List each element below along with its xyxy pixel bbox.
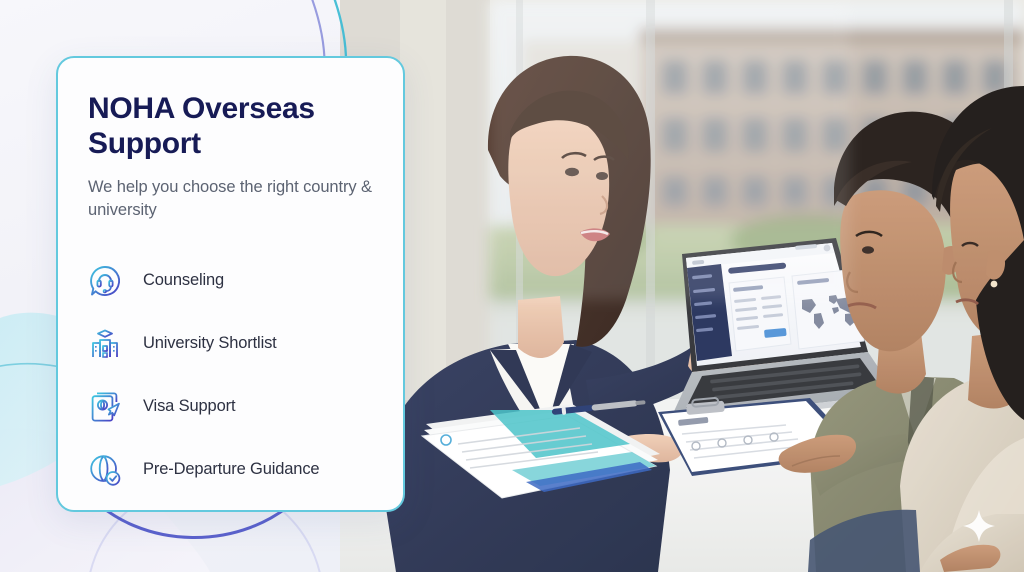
list-item-label: Visa Support xyxy=(143,397,235,416)
photo-illustration xyxy=(340,0,1024,572)
sparkle-icon xyxy=(962,509,996,543)
page-title: NOHA Overseas Support xyxy=(88,92,373,162)
list-item-label: Counseling xyxy=(143,271,224,290)
list-item[interactable]: Visa Support xyxy=(88,375,373,438)
list-item-label: University Shortlist xyxy=(143,334,277,353)
headset-support-icon xyxy=(88,264,122,298)
passport-plane-icon xyxy=(88,390,122,424)
poster-canvas: NOHA Overseas Support We help you choose… xyxy=(0,0,1024,572)
list-item[interactable]: Counseling xyxy=(88,249,373,312)
list-item[interactable]: Pre-Departure Guidance xyxy=(88,438,373,501)
feature-list: Counseling xyxy=(88,249,373,501)
university-building-icon xyxy=(88,327,122,361)
counseling-session-photo xyxy=(340,0,1024,572)
list-item-label: Pre-Departure Guidance xyxy=(143,460,319,479)
card-subtitle: We help you choose the right country & u… xyxy=(88,176,373,223)
globe-check-icon xyxy=(88,453,122,487)
info-card: NOHA Overseas Support We help you choose… xyxy=(56,56,405,512)
list-item[interactable]: University Shortlist xyxy=(88,312,373,375)
